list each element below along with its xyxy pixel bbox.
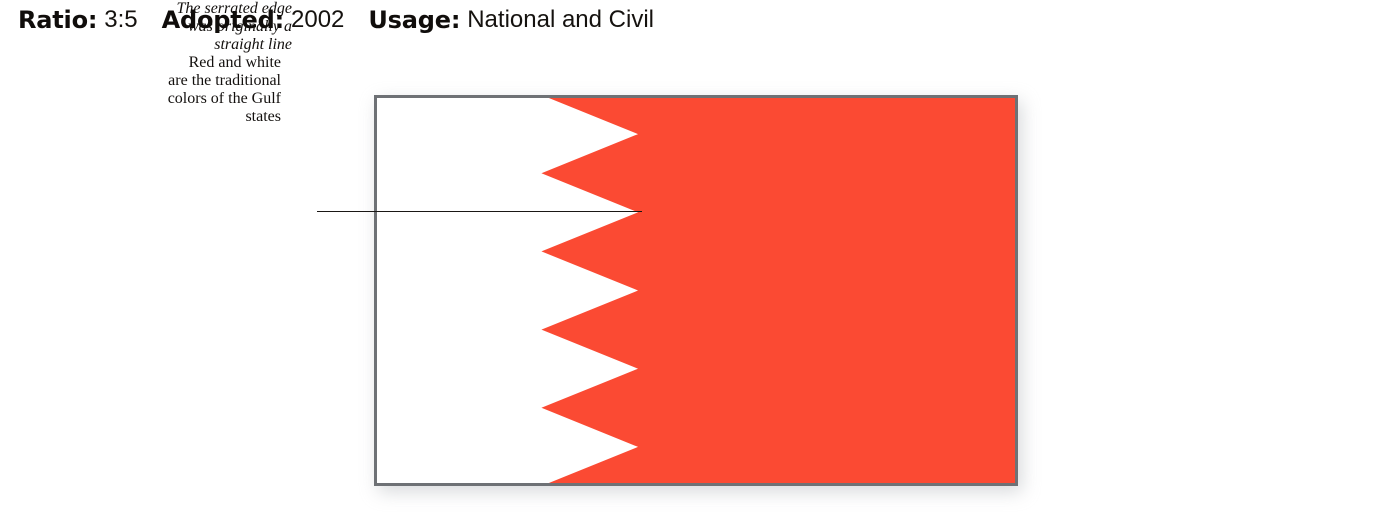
leader-line [317, 211, 642, 212]
adopted-label: Adopted: [162, 8, 284, 32]
adopted-value: 2002 [291, 8, 344, 32]
usage-label: Usage: [368, 8, 460, 32]
annotation-left-line-3: straight line [0, 36, 292, 54]
annotation-right-line-3: colors of the Gulf [0, 90, 281, 108]
annotation-right-line-2: are the traditional [0, 72, 281, 90]
flag-spec-header: Ratio: 3:5 Adopted: 2002 Usage: National… [18, 2, 654, 38]
annotation-right-line-4: states [0, 108, 281, 126]
ratio-value: 3:5 [104, 8, 137, 32]
ratio-label: Ratio: [18, 8, 97, 32]
flag-of-bahrain-image [374, 95, 1018, 486]
flag-figure [374, 95, 1018, 486]
annotation-right-line-1: Red and white [0, 54, 281, 72]
usage-value: National and Civil [467, 8, 654, 32]
annotation-right: Red and white are the traditional colors… [0, 54, 281, 126]
